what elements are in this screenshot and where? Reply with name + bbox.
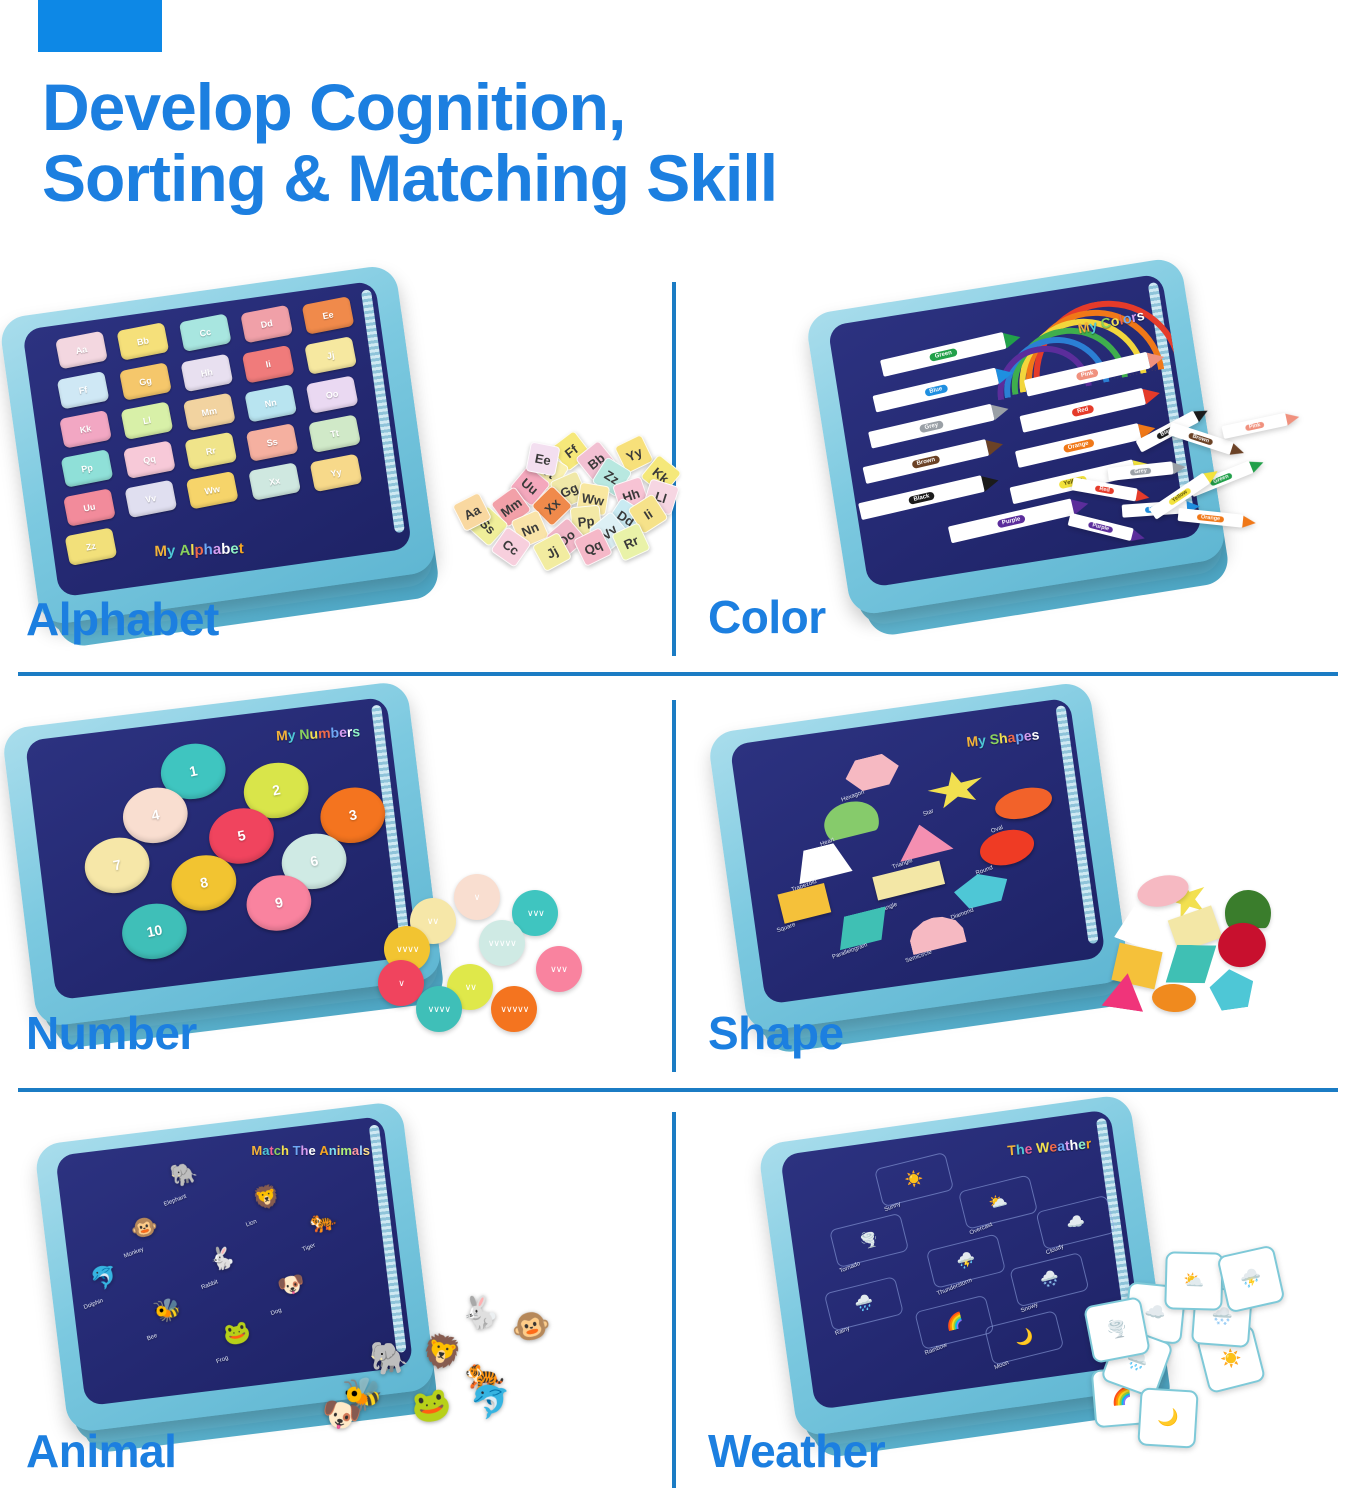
panel-color[interactable]: My Colors GreenBlueGreyBrownBlackPinkRed…: [676, 282, 1355, 664]
alphabet-tile[interactable]: Nn: [244, 384, 297, 422]
title-line-1: Develop Cognition,: [42, 70, 625, 144]
animal-label: Dog: [270, 1308, 282, 1318]
shape-heart[interactable]: [820, 796, 881, 842]
crayon-body: Purple: [948, 498, 1075, 543]
board-title-number: My Numbers: [276, 724, 361, 744]
crayon-tip: [1172, 460, 1186, 473]
number-circle-10[interactable]: 10: [117, 898, 192, 965]
number-token[interactable]: ∨∨∨∨∨: [479, 920, 525, 966]
board-title-alphabet: My Alphabet: [154, 540, 244, 560]
crayon-tip: [1285, 411, 1300, 425]
alphabet-tile[interactable]: Kk: [59, 410, 112, 448]
animal-label: Rabbit: [200, 1279, 218, 1291]
animal-frog[interactable]: 🐸: [221, 1319, 253, 1347]
animal-label: Frog: [216, 1355, 230, 1365]
loose-shape-parallelogram[interactable]: [1165, 945, 1216, 984]
shape-label: Star: [922, 808, 934, 817]
alphabet-tile[interactable]: Cc: [179, 314, 232, 352]
shape-label: Square: [776, 922, 796, 934]
loose-animal-dolphin[interactable]: 🐬: [469, 1385, 511, 1419]
shape-round[interactable]: [976, 825, 1037, 871]
crayon-label: Purple: [996, 514, 1026, 528]
weather-box-tornado[interactable]: 🌪️: [829, 1213, 910, 1268]
crayon-tip: [1230, 443, 1246, 458]
panel-label-animal: Animal: [26, 1424, 176, 1478]
crayon-label: Green: [929, 347, 957, 361]
alphabet-tile[interactable]: Vv: [125, 479, 178, 517]
board-title-shape: My Shapes: [966, 726, 1040, 750]
alphabet-tile[interactable]: Hh: [180, 353, 233, 391]
weather-box-cloudy[interactable]: ☁️: [1035, 1194, 1116, 1249]
board-title-weather: The Weather: [1007, 1135, 1092, 1158]
alphabet-tile[interactable]: Ww: [186, 471, 239, 509]
board-face: AaBbCcDdEeFfGgHhIiJjKkLlMmNnOoPpQqRrSsTt…: [22, 281, 412, 598]
alphabet-tile[interactable]: Xx: [248, 462, 301, 500]
loose-weather-card-overcast[interactable]: ⛅: [1164, 1251, 1224, 1311]
page-title: Develop Cognition, Sorting & Matching Sk…: [42, 72, 1142, 215]
crayon-label: Blue: [923, 384, 947, 397]
animal-dog[interactable]: 🐶: [275, 1272, 307, 1300]
crayon-label: Purple: [1088, 521, 1114, 533]
divider-row-1: [18, 672, 1338, 676]
panel-label-color: Color: [708, 590, 826, 644]
number-token[interactable]: ∨∨∨∨: [416, 986, 462, 1032]
loose-animal-frog[interactable]: 🐸: [409, 1386, 455, 1425]
animal-label: Monkey: [124, 1247, 146, 1260]
shape-triangle[interactable]: [893, 818, 954, 862]
animal-lion[interactable]: 🦁: [251, 1183, 283, 1211]
alphabet-tile[interactable]: Tt: [308, 414, 361, 452]
alphabet-tile[interactable]: Ff: [57, 370, 110, 408]
loose-shape-diamond[interactable]: [1207, 966, 1256, 1012]
animal-elephant[interactable]: 🐘: [168, 1160, 200, 1188]
divider-row-2: [18, 1088, 1338, 1092]
loose-shape-circle[interactable]: [1152, 983, 1197, 1013]
animal-monkey[interactable]: 🐵: [129, 1214, 161, 1242]
alphabet-tile[interactable]: Gg: [119, 362, 172, 400]
crayon-body: Pink: [1222, 413, 1288, 439]
alphabet-tile[interactable]: Ll: [121, 401, 174, 439]
crayon-tip: [981, 472, 1000, 491]
loose-weather-card-moon[interactable]: 🌙: [1137, 1387, 1198, 1448]
panel-label-weather: Weather: [708, 1424, 885, 1478]
loose-weather-card-tornado[interactable]: 🌪️: [1083, 1296, 1151, 1364]
panel-number[interactable]: 12345678910 My Numbers ∨∨∨∨∨∨∨∨∨∨∨∨∨∨∨∨∨…: [0, 700, 672, 1082]
number-board[interactable]: 12345678910 My Numbers: [1, 680, 443, 1027]
animal-label: Tiger: [302, 1242, 317, 1252]
loose-animal-monkey[interactable]: 🐵: [507, 1306, 554, 1347]
panel-shape[interactable]: HexagonHeartStarOvalTrapezoidTriangleRou…: [676, 700, 1355, 1082]
crayon-tip: [1136, 489, 1151, 503]
crayon-label: Grey: [918, 420, 943, 433]
shape-label: Diamond: [951, 907, 976, 921]
animal-tiger[interactable]: 🐅: [307, 1207, 339, 1235]
alphabet-tile[interactable]: Jj: [304, 336, 357, 374]
board-face: ☀️Sunny⛅Overcast☁️Cloudy🌪️Tornado⛈️Thund…: [780, 1109, 1146, 1410]
board-face: HexagonHeartStarOvalTrapezoidTriangleRou…: [730, 697, 1106, 1005]
alphabet-tile[interactable]: Rr: [184, 432, 237, 470]
crayon-body: Black: [858, 475, 985, 520]
alphabet-tile[interactable]: Bb: [117, 323, 170, 361]
shape-board[interactable]: HexagonHeartStarOvalTrapezoidTriangleRou…: [707, 681, 1130, 1034]
shape-rectangle[interactable]: [872, 860, 944, 900]
crayon-label: Red: [1071, 404, 1094, 417]
board-face: 🐘Elephant🦁Lion🐵Monkey🐅Tiger🐬Dolphin🐇Rabb…: [55, 1116, 413, 1407]
weather-box-sunny[interactable]: ☀️: [874, 1152, 955, 1207]
crayon-label: Pink: [1075, 368, 1099, 381]
alphabet-tile[interactable]: Aa: [55, 331, 108, 369]
board-face: 12345678910 My Numbers: [25, 696, 417, 999]
panel-alphabet[interactable]: AaBbCcDdEeFfGgHhIiJjKkLlMmNnOoPpQqRrSsTt…: [0, 282, 672, 664]
loose-animal-lion[interactable]: 🦁: [419, 1332, 465, 1373]
alphabet-tile[interactable]: Uu: [63, 488, 116, 526]
weather-box-snowy[interactable]: 🌨️: [1009, 1252, 1090, 1307]
loose-animal-rabbit[interactable]: 🐇: [455, 1290, 502, 1332]
weather-box-rainy[interactable]: 🌧️: [824, 1276, 905, 1331]
panel-animal[interactable]: 🐘Elephant🦁Lion🐵Monkey🐅Tiger🐬Dolphin🐇Rabb…: [0, 1112, 672, 1500]
alphabet-tile[interactable]: Dd: [240, 305, 293, 343]
accent-square: [38, 0, 162, 52]
crayon-label: Orange: [1197, 513, 1225, 522]
crayon-tip: [986, 436, 1005, 455]
alphabet-tile[interactable]: Yy: [310, 453, 363, 491]
animal-label: Dolphin: [83, 1298, 104, 1311]
crayon-label: Brown: [911, 455, 941, 469]
crayon-label: Black: [908, 491, 935, 505]
shape-oval[interactable]: [992, 782, 1056, 824]
loose-weather-card-thunderstorm[interactable]: ⛈️: [1216, 1244, 1285, 1313]
shape-square[interactable]: [777, 883, 831, 924]
title-line-2: Sorting & Matching Skill: [42, 143, 1142, 214]
alphabet-tile[interactable]: Qq: [123, 440, 176, 478]
shape-trapezoid[interactable]: [792, 840, 853, 884]
loose-animal-elephant[interactable]: 🐘: [369, 1342, 409, 1374]
number-token[interactable]: ∨∨∨: [536, 946, 582, 992]
alphabet-loose-tile[interactable]: Ee: [525, 441, 560, 476]
alphabet-tile[interactable]: Mm: [182, 392, 235, 430]
alphabet-tile[interactable]: Ee: [302, 296, 355, 334]
panel-label-number: Number: [26, 1006, 197, 1060]
alphabet-board[interactable]: AaBbCcDdEeFfGgHhIiJjKkLlMmNnOoPpQqRrSsTt…: [0, 264, 438, 627]
animal-label: Elephant: [164, 1193, 188, 1207]
animal-rabbit[interactable]: 🐇: [205, 1245, 237, 1273]
shape-hexagon[interactable]: [842, 751, 903, 795]
loose-animal-dog[interactable]: 🐶: [318, 1394, 364, 1435]
animal-label: Lion: [246, 1219, 259, 1229]
panel-label-alphabet: Alphabet: [26, 592, 219, 646]
board-title-animal: Match The Animals: [251, 1143, 370, 1158]
alphabet-tile[interactable]: Zz: [65, 527, 118, 565]
alphabet-tile[interactable]: Oo: [306, 375, 359, 413]
infographic-root: Develop Cognition, Sorting & Matching Sk…: [0, 0, 1355, 1500]
panel-label-shape: Shape: [708, 1006, 844, 1060]
animal-label: Bee: [147, 1333, 159, 1342]
weather-box-overcast[interactable]: ⛅: [958, 1174, 1039, 1229]
shape-star[interactable]: [923, 765, 988, 815]
number-token[interactable]: ∨∨∨∨∨: [491, 986, 537, 1032]
crayon-tip: [1242, 515, 1256, 528]
animal-bee[interactable]: 🐝: [152, 1297, 184, 1325]
loose-crayon-pink[interactable]: Pink: [1222, 410, 1301, 439]
alphabet-tile[interactable]: Ii: [242, 344, 295, 382]
crayon-label: Pink: [1244, 421, 1264, 431]
animal-dolphin[interactable]: 🐬: [88, 1264, 120, 1292]
alphabet-tile[interactable]: Pp: [61, 449, 114, 487]
weather-box-rainbow[interactable]: 🌈: [914, 1294, 995, 1349]
alphabet-tile[interactable]: Ss: [246, 423, 299, 461]
number-token[interactable]: ∨: [454, 874, 500, 920]
board-face: My Colors GreenBlueGreyBrownBlackPinkRed…: [827, 273, 1203, 588]
panel-weather[interactable]: ☀️Sunny⛅Overcast☁️Cloudy🌪️Tornado⛈️Thund…: [676, 1112, 1355, 1500]
crayon-label: Orange: [1062, 438, 1094, 453]
crayon-label: Red: [1095, 485, 1114, 494]
crayon-label: Grey: [1130, 467, 1151, 475]
weather-box-moon[interactable]: 🌙: [984, 1310, 1065, 1365]
